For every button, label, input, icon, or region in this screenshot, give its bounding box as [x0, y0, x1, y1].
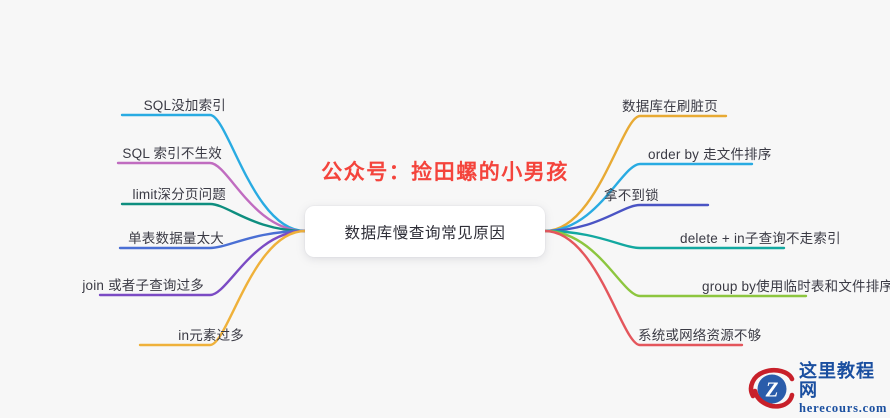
center-node[interactable]: 数据库慢查询常见原因: [305, 206, 545, 257]
logo-text-block: 这里教程网 herecours.com: [799, 362, 890, 416]
branch-label[interactable]: 系统或网络资源不够: [634, 329, 761, 343]
branch-label[interactable]: group by使用临时表和文件排序: [698, 280, 890, 294]
logo-mark-icon: Z: [747, 365, 795, 413]
branch-line: [545, 205, 708, 231]
branch-line: [122, 204, 305, 231]
center-node-label: 数据库慢查询常见原因: [344, 221, 505, 243]
logo-title: 这里教程网: [799, 362, 890, 400]
branch-label[interactable]: 单表数据量太大: [0, 232, 228, 246]
branch-label[interactable]: SQL没加索引: [0, 99, 230, 113]
branch-label[interactable]: delete + in子查询不走索引: [676, 232, 841, 246]
branch-label[interactable]: in元素过多: [0, 329, 248, 343]
branch-label[interactable]: 数据库在刷脏页: [618, 100, 718, 114]
branch-label[interactable]: join 或者子查询过多: [0, 279, 208, 293]
svg-text:Z: Z: [765, 377, 779, 401]
logo-domain: herecours.com: [799, 401, 890, 416]
branch-label[interactable]: 拿不到锁: [600, 189, 659, 203]
site-logo: Z 这里教程网 herecours.com: [747, 362, 890, 416]
branch-label[interactable]: limit深分页问题: [0, 188, 230, 202]
mindmap-canvas: 公众号：捡田螺的小男孩 数据库慢查询常见原因 SQL没加索引SQL 索引不生效l…: [0, 0, 890, 415]
watermark-title: 公众号：捡田螺的小男孩: [0, 156, 890, 186]
